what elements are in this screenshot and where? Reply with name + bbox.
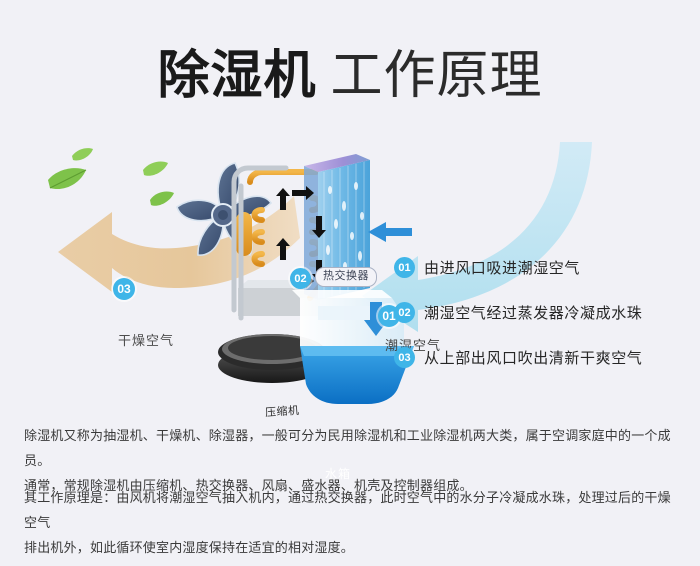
accumulator-icon	[236, 212, 252, 256]
page-title-primary: 除湿机	[157, 47, 316, 105]
badge-02: 02	[290, 268, 311, 289]
leaf-icon	[48, 168, 86, 189]
label-dry-air: 干燥空气	[118, 330, 174, 349]
legend-badge-03: 03	[394, 347, 415, 368]
legend-badge-01: 01	[394, 257, 415, 278]
leaf-icon	[150, 191, 174, 205]
legend-badge-02: 02	[394, 302, 415, 323]
label-compressor: 压缩机	[264, 402, 300, 420]
legend-text-02: 潮湿空气经过蒸发器冷凝成水珠	[424, 302, 642, 323]
legend-text-03: 从上部出风口吹出清新干爽空气	[424, 347, 642, 368]
page-title: 除湿机工作原理	[0, 33, 700, 108]
legend-item: 03 从上部出风口吹出清新干爽空气	[394, 345, 684, 370]
legend-item: 02 潮湿空气经过蒸发器冷凝成水珠	[394, 300, 684, 325]
legend-list: 01 由进风口吸进潮湿空气 02 潮湿空气经过蒸发器冷凝成水珠 03 从上部出风…	[394, 255, 684, 390]
leaf-icon	[143, 161, 168, 175]
legend-item: 01 由进风口吸进潮湿空气	[394, 255, 684, 280]
description-p2-line1: 其工作原理是：由风机将潮湿空气抽入机内，通过热交换器，此时空气中的水分子冷凝成水…	[24, 485, 678, 535]
leaf-icon	[72, 148, 93, 160]
legend-text-01: 由进风口吸进潮湿空气	[424, 257, 580, 278]
air-inlet-arrow	[368, 222, 412, 242]
description-p1-line1: 除湿机又称为抽湿机、干燥机、除湿器，一般可分为民用除湿机和工业除湿机两大类，属于…	[24, 423, 678, 473]
page-title-secondary: 工作原理	[331, 47, 543, 105]
description-p2-line2: 排出机外，如此循环使室内湿度保持在适宜的相对湿度。	[24, 535, 678, 560]
callout-heat-exchanger: 热交换器	[315, 267, 377, 287]
badge-03: 03	[113, 278, 135, 300]
page-root: 除湿机工作原理	[0, 0, 700, 566]
description-paragraph-2: 其工作原理是：由风机将潮湿空气抽入机内，通过热交换器，此时空气中的水分子冷凝成水…	[24, 485, 678, 560]
